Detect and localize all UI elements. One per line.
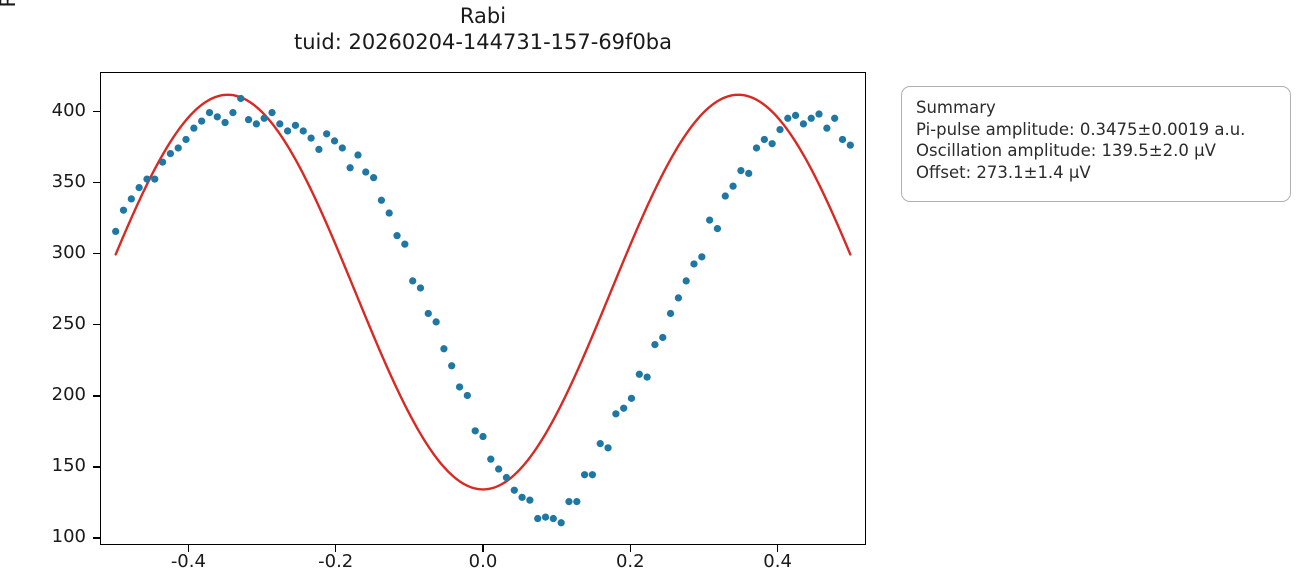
- summary-pi-pulse-amplitude: Pi-pulse amplitude: 0.3475±0.0019 a.u.: [916, 119, 1290, 141]
- data-point: [300, 127, 307, 134]
- data-point: [425, 310, 432, 317]
- data-point: [808, 115, 815, 122]
- data-point: [261, 115, 268, 122]
- data-point: [182, 136, 189, 143]
- data-point: [683, 277, 690, 284]
- summary-offset: Offset: 273.1±1.4 μV: [916, 162, 1290, 184]
- data-point: [667, 310, 674, 317]
- data-point: [792, 112, 799, 119]
- data-point: [479, 433, 486, 440]
- data-point: [565, 498, 572, 505]
- data-point: [518, 494, 525, 501]
- data-point: [339, 144, 346, 151]
- plot-drawing-area: [101, 73, 865, 544]
- data-point: [284, 127, 291, 134]
- data-point: [198, 117, 205, 124]
- data-point: [120, 207, 127, 214]
- x-tick-mark: [630, 545, 631, 552]
- x-tick-label: 0.2: [590, 551, 670, 572]
- data-point: [229, 109, 236, 116]
- data-point: [550, 515, 557, 522]
- data-point: [464, 392, 471, 399]
- data-point: [206, 109, 213, 116]
- data-point: [534, 515, 541, 522]
- data-point: [448, 362, 455, 369]
- data-point: [346, 164, 353, 171]
- data-point: [511, 487, 518, 494]
- data-point: [331, 137, 338, 144]
- data-point: [440, 345, 447, 352]
- summary-heading: Summary: [916, 97, 1290, 119]
- data-point: [815, 110, 822, 117]
- data-point: [675, 294, 682, 301]
- data-point: [354, 151, 361, 158]
- data-point: [135, 184, 142, 191]
- data-point: [847, 142, 854, 149]
- data-point: [823, 125, 830, 132]
- data-point: [776, 126, 783, 133]
- data-point: [433, 318, 440, 325]
- data-point: [753, 144, 760, 151]
- data-point: [589, 471, 596, 478]
- data-point: [128, 195, 135, 202]
- data-point: [370, 174, 377, 181]
- data-point: [292, 122, 299, 129]
- data-point: [784, 115, 791, 122]
- figure-canvas: Rabi tuid: 20260204-144731-157-69f0ba Ro…: [0, 0, 1314, 588]
- data-point: [315, 146, 322, 153]
- summary-box: Summary Pi-pulse amplitude: 0.3475±0.001…: [901, 86, 1291, 202]
- data-point: [737, 167, 744, 174]
- data-point: [253, 120, 260, 127]
- summary-oscillation-amplitude: Oscillation amplitude: 139.5±2.0 μV: [916, 140, 1290, 162]
- data-point: [643, 373, 650, 380]
- x-tick-mark: [188, 545, 189, 552]
- data-point: [487, 456, 494, 463]
- data-point: [761, 136, 768, 143]
- data-point: [237, 95, 244, 102]
- x-tick-label: 0.4: [738, 551, 818, 572]
- data-point: [276, 120, 283, 127]
- data-point: [307, 134, 314, 141]
- data-point: [221, 119, 228, 126]
- data-point: [143, 175, 150, 182]
- data-point: [800, 120, 807, 127]
- data-point: [558, 519, 565, 526]
- fit-curve-line: [116, 95, 851, 490]
- data-point: [409, 277, 416, 284]
- data-point: [604, 444, 611, 451]
- data-point: [417, 284, 424, 291]
- x-tick-mark: [482, 545, 483, 552]
- data-point: [151, 175, 158, 182]
- data-point: [831, 115, 838, 122]
- data-point: [503, 474, 510, 481]
- data-point: [245, 116, 252, 123]
- data-point: [573, 498, 580, 505]
- data-point: [175, 144, 182, 151]
- data-point: [722, 192, 729, 199]
- data-point: [542, 513, 549, 520]
- data-point: [745, 170, 752, 177]
- data-point: [659, 334, 666, 341]
- data-point: [690, 260, 697, 267]
- data-point: [769, 140, 776, 147]
- data-point: [268, 109, 275, 116]
- data-point: [651, 341, 658, 348]
- data-point: [636, 371, 643, 378]
- data-point: [456, 383, 463, 390]
- data-point: [620, 405, 627, 412]
- data-point: [159, 158, 166, 165]
- data-point: [112, 228, 119, 235]
- x-tick-label: -0.2: [296, 551, 376, 572]
- plot-axes-frame: [100, 72, 866, 545]
- data-point: [729, 183, 736, 190]
- data-point: [472, 427, 479, 434]
- data-point: [714, 225, 721, 232]
- data-point: [190, 125, 197, 132]
- data-point: [495, 465, 502, 472]
- data-point: [698, 253, 705, 260]
- x-tick-label: 0.0: [443, 551, 523, 572]
- x-tick-mark: [777, 545, 778, 552]
- data-point: [612, 410, 619, 417]
- x-tick-label: -0.4: [148, 551, 228, 572]
- data-point: [393, 232, 400, 239]
- data-point: [362, 168, 369, 175]
- data-point: [628, 395, 635, 402]
- data-point: [526, 497, 533, 504]
- data-point: [839, 136, 846, 143]
- data-point: [597, 440, 604, 447]
- data-point: [401, 241, 408, 248]
- data-point: [581, 471, 588, 478]
- data-point: [214, 113, 221, 120]
- x-tick-mark: [335, 545, 336, 552]
- data-point: [323, 130, 330, 137]
- data-point-group: [112, 95, 854, 527]
- data-point: [167, 150, 174, 157]
- data-point: [386, 209, 393, 216]
- data-point: [706, 216, 713, 223]
- data-point: [378, 197, 385, 204]
